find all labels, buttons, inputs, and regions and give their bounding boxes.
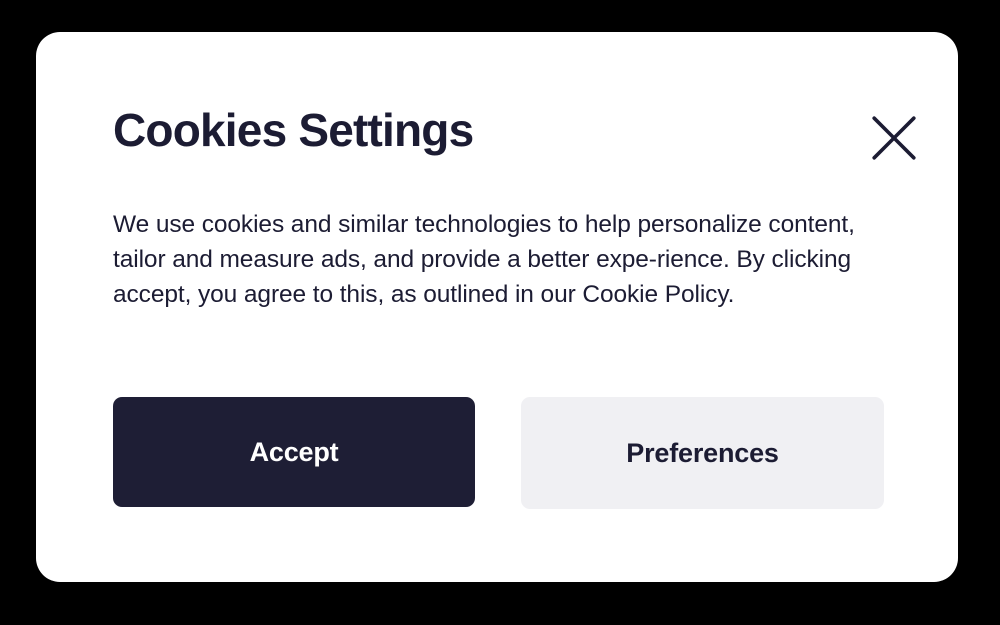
dialog-actions: Accept Preferences	[113, 397, 884, 509]
dialog-description: We use cookies and similar technologies …	[113, 207, 897, 312]
cookies-settings-dialog: Cookies Settings We use cookies and simi…	[36, 32, 958, 582]
dialog-content: Cookies Settings We use cookies and simi…	[113, 32, 958, 582]
close-button[interactable]	[862, 106, 926, 170]
close-icon	[872, 116, 916, 160]
accept-button[interactable]: Accept	[113, 397, 475, 507]
page-title: Cookies Settings	[113, 105, 473, 155]
preferences-button[interactable]: Preferences	[521, 397, 884, 509]
screen-background: Cookies Settings We use cookies and simi…	[0, 0, 1000, 625]
